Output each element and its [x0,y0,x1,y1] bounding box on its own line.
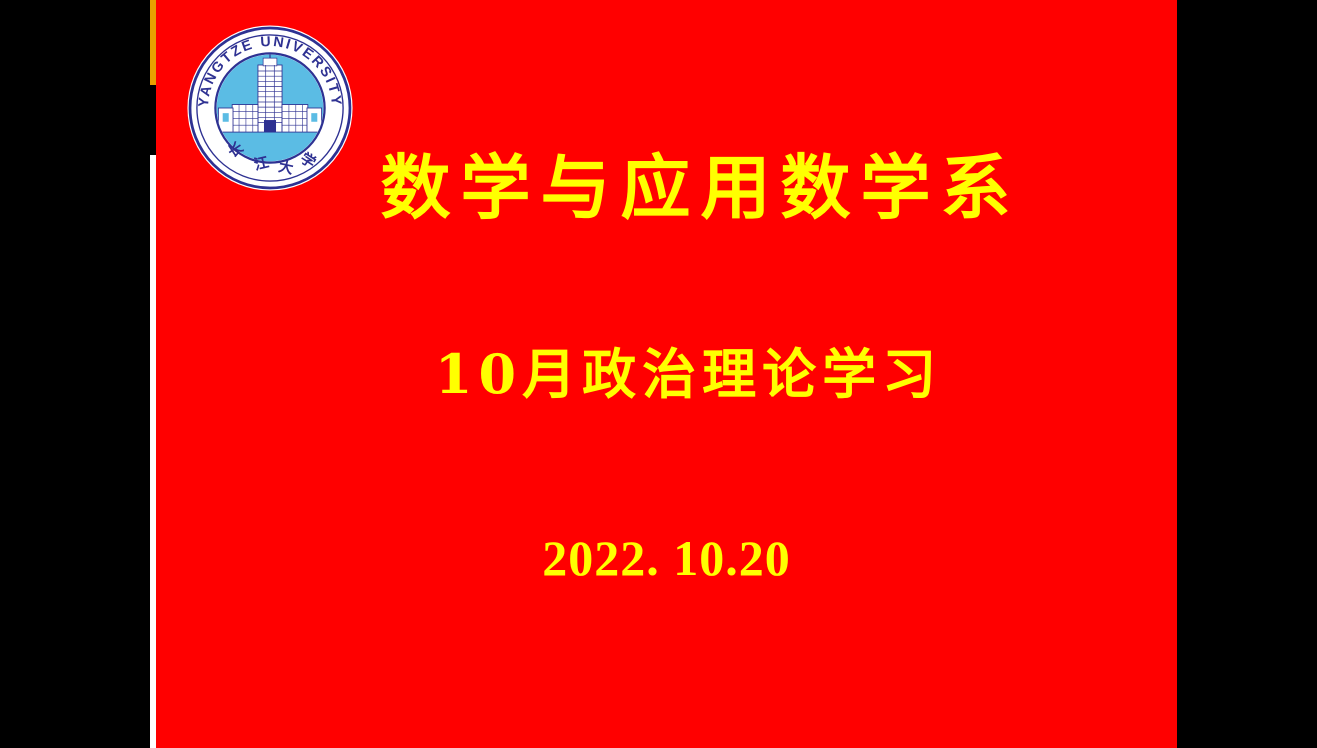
right-letterbox-bar [1177,0,1317,748]
slide-canvas: YANGTZE UNIVERSITY 长 江 大 学 数学与应用数学系 10月政… [156,0,1177,748]
presentation-slide-screen: YANGTZE UNIVERSITY 长 江 大 学 数学与应用数学系 10月政… [0,0,1317,748]
left-letterbox-bar [0,0,150,748]
study-session-subtitle: 10月政治理论学习 [156,330,1199,409]
slide-date: 2022. 10.20 [156,529,1177,587]
department-title: 数学与应用数学系 [156,132,1211,233]
